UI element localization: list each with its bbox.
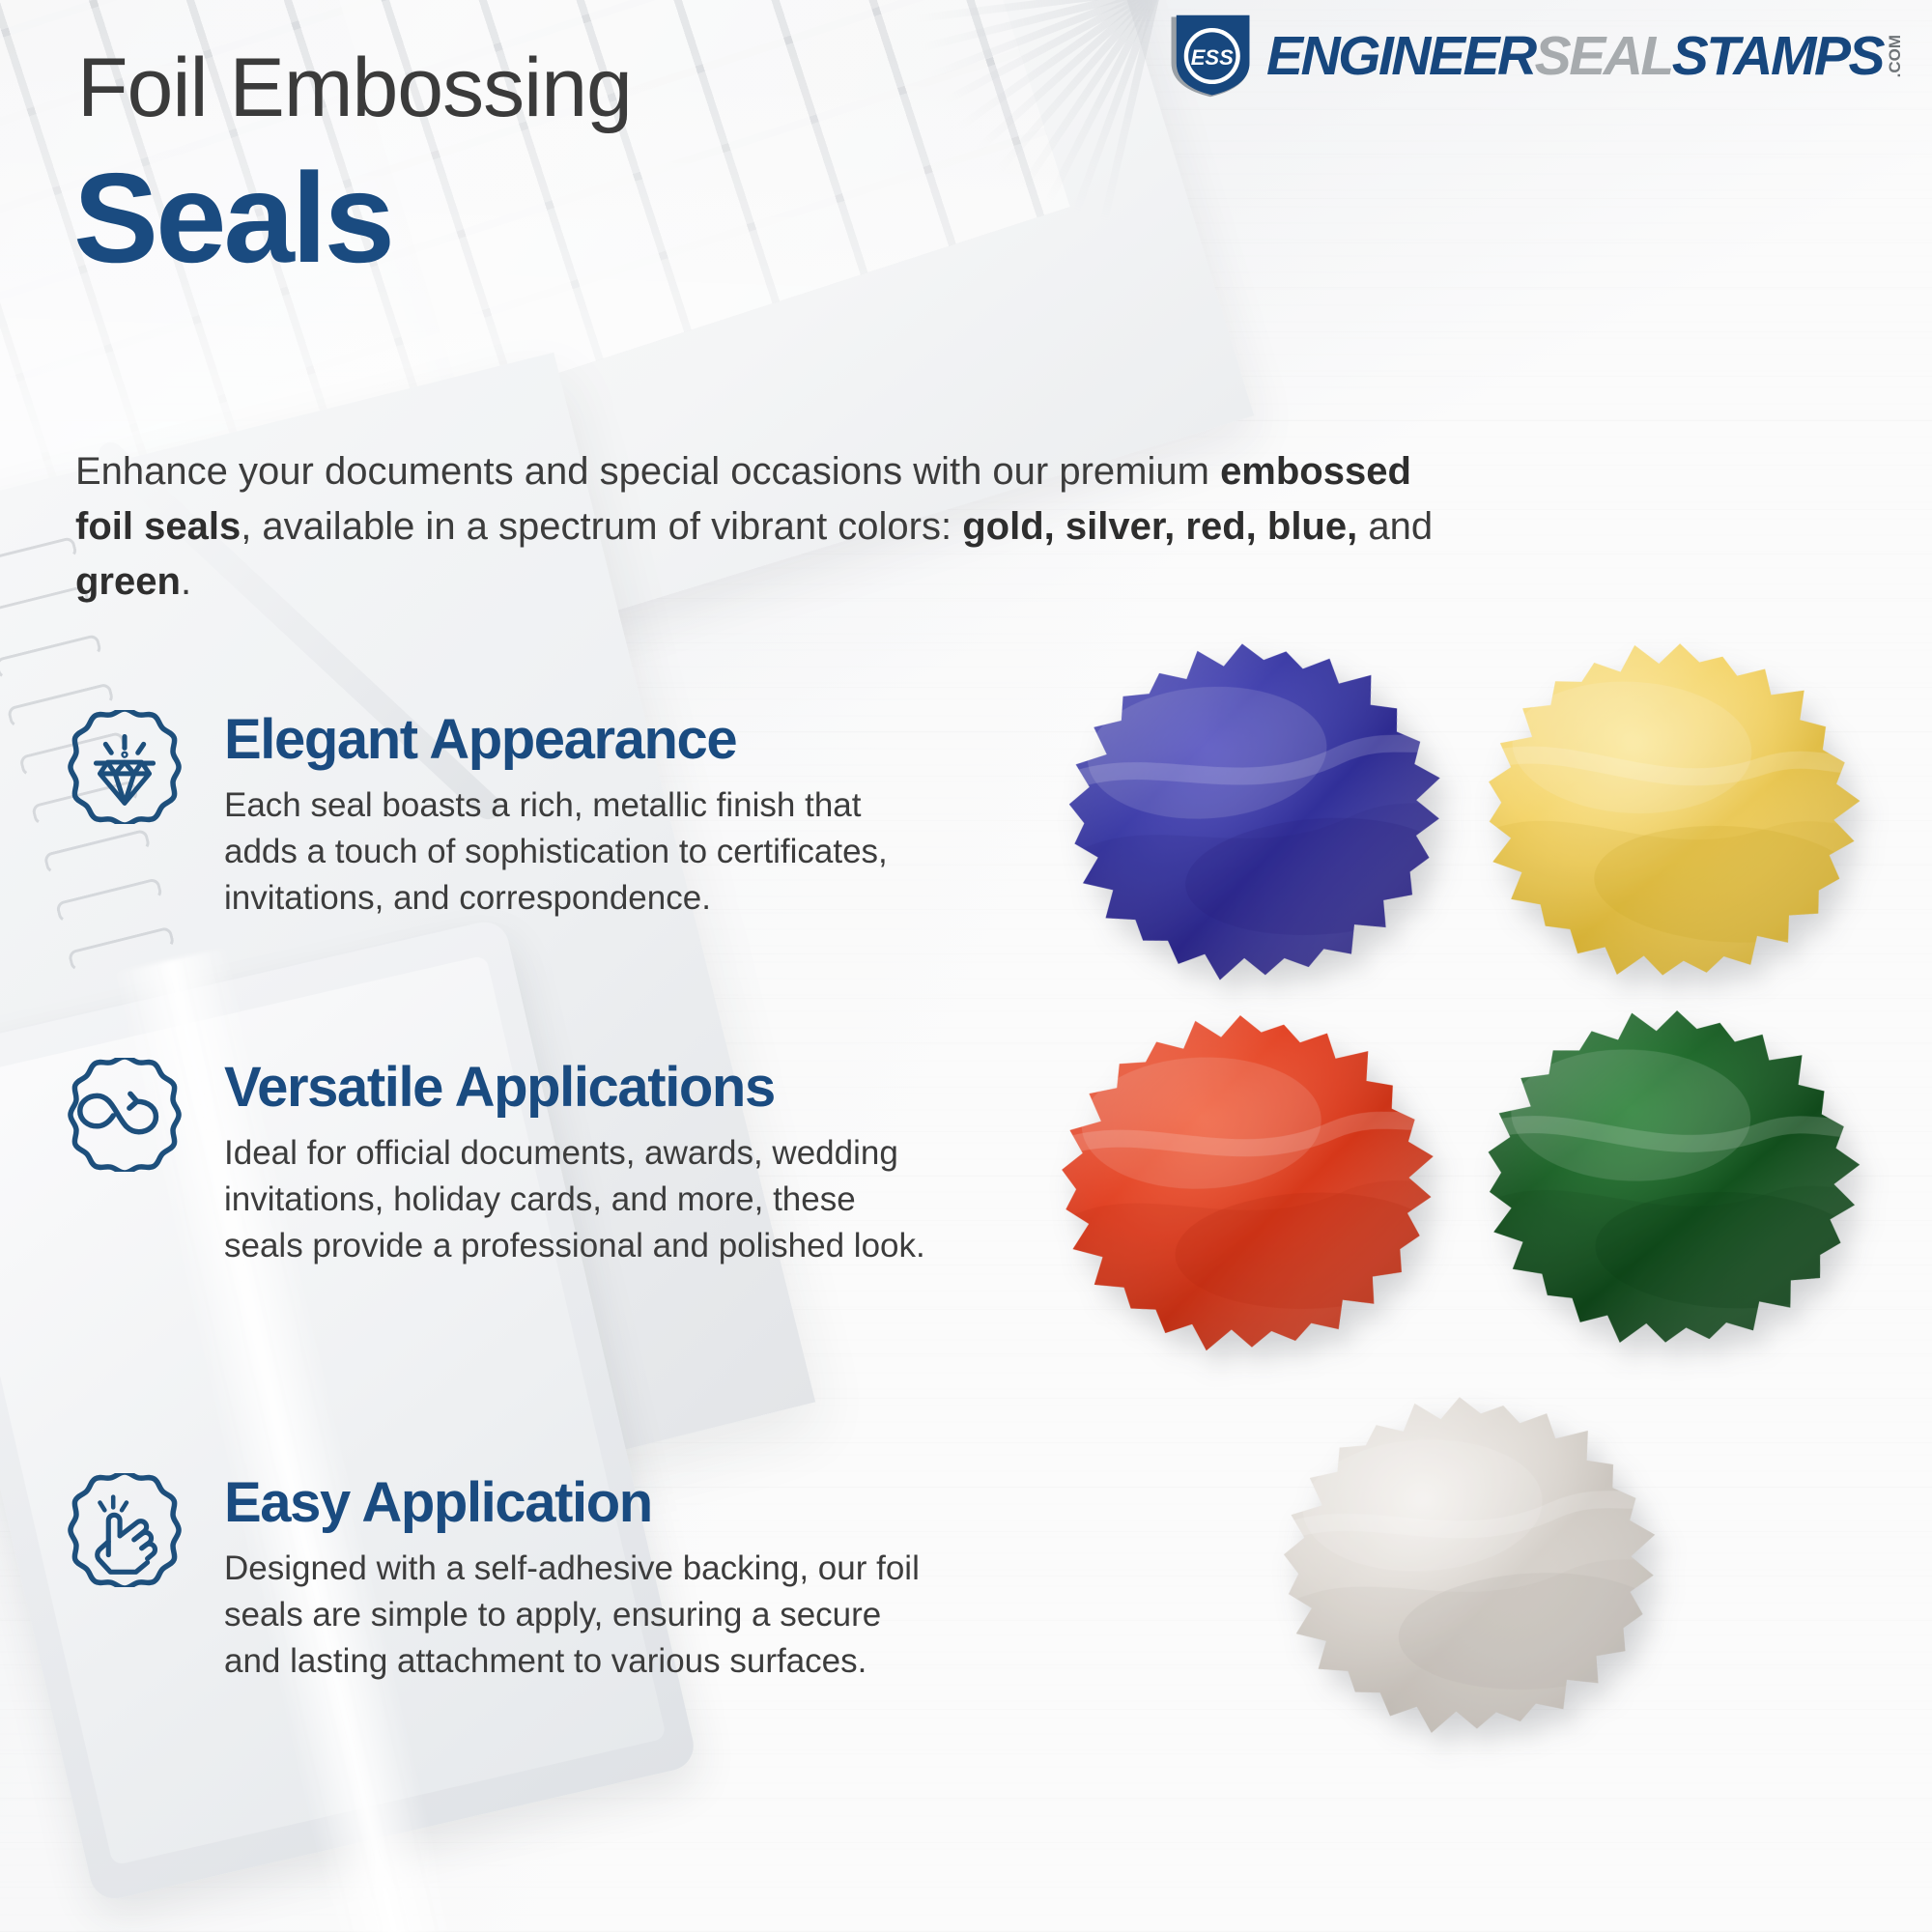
brand-suffix-dotcom: .COM <box>1887 35 1903 77</box>
brand-wordmark: ENGINEERSEALSTAMPS .COM <box>1266 29 1903 84</box>
feature-description: Each seal boasts a rich, metallic finish… <box>224 782 937 921</box>
feature-easy-application: Easy Application Designed with a self-ad… <box>68 1473 937 1684</box>
feature-description: Ideal for official documents, awards, we… <box>224 1130 937 1268</box>
page-header: Foil Embossing Seals ESS <box>0 0 1932 290</box>
tap-hand-seal-icon <box>68 1473 182 1587</box>
svg-text:ESS: ESS <box>1191 45 1234 70</box>
intro-text-4: . <box>181 560 191 603</box>
intro-text-2: , available in a spectrum of vibrant col… <box>241 505 962 548</box>
brand-logo[interactable]: ESS ENGINEERSEALSTAMPS .COM <box>1168 14 1903 99</box>
intro-bold-colors: gold, silver, red, blue, <box>962 505 1357 548</box>
intro-paragraph: Enhance your documents and special occas… <box>75 444 1457 609</box>
intro-text-3: and <box>1357 505 1433 548</box>
page-title-kicker: Foil Embossing <box>77 46 632 129</box>
seal-silver <box>1266 1381 1670 1748</box>
feature-versatile-applications: Versatile Applications Ideal for officia… <box>68 1058 937 1268</box>
seal-green <box>1472 998 1870 1359</box>
seal-gold <box>1469 628 1873 995</box>
diamond-seal-icon <box>68 710 182 824</box>
brand-word-engineer: ENGINEER <box>1266 29 1535 84</box>
seal-blue <box>1049 624 1459 998</box>
brand-word-stamps: STAMPS <box>1672 29 1883 84</box>
feature-elegant-appearance: Elegant Appearance Each seal boasts a ri… <box>68 710 937 921</box>
feature-description: Designed with a self-adhesive backing, o… <box>224 1546 937 1684</box>
seal-red <box>1047 1003 1445 1364</box>
intro-bold-green: green <box>75 560 181 603</box>
brand-word-seal: SEAL <box>1535 29 1672 84</box>
feature-title: Versatile Applications <box>224 1058 937 1117</box>
feature-title: Easy Application <box>224 1473 937 1532</box>
intro-text-1: Enhance your documents and special occas… <box>75 450 1220 493</box>
page-title: Seals <box>73 155 392 282</box>
infographic-canvas: Foil Embossing Seals ESS <box>0 0 1932 1932</box>
infinity-seal-icon <box>68 1058 182 1172</box>
feature-title: Elegant Appearance <box>224 710 937 769</box>
ess-gear-badge-icon: ESS <box>1168 14 1253 99</box>
